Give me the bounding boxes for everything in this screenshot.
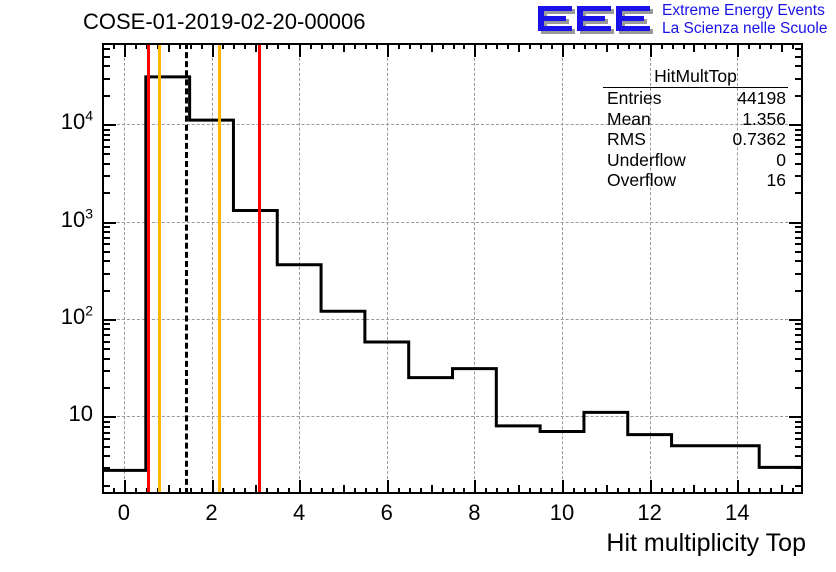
stats-row-value: 1.356: [742, 109, 786, 130]
x-tick-label: 6: [381, 500, 393, 526]
y-tick-label: 103: [61, 207, 93, 233]
logo-line-1: Extreme Energy Events: [662, 2, 827, 20]
stats-row-value: 16: [767, 170, 786, 191]
stats-row: RMS0.7362: [603, 129, 788, 150]
x-tick-label: 14: [725, 500, 749, 526]
stats-row: Mean1.356: [603, 109, 788, 130]
root-canvas: COSE-01-2019-02-20-00006: [0, 0, 836, 572]
stats-row-key: Overflow: [607, 170, 676, 191]
stats-rows: Entries44198Mean1.356RMS0.7362Underflow0…: [603, 88, 788, 191]
x-tick-label: 4: [293, 500, 305, 526]
logo-line-2: La Scienza nelle Scuole: [662, 20, 827, 38]
stats-box: HitMultTop Entries44198Mean1.356RMS0.736…: [603, 66, 788, 192]
stats-row-key: RMS: [607, 129, 646, 150]
stats-row-value: 0: [776, 150, 786, 171]
stats-row-value: 0.7362: [732, 129, 786, 150]
stats-box-title: HitMultTop: [603, 66, 788, 88]
logo-text: Extreme Energy Events La Scienza nelle S…: [662, 2, 827, 38]
stats-row: Entries44198: [603, 88, 788, 109]
page-title: COSE-01-2019-02-20-00006: [83, 9, 366, 35]
eee-logo: Extreme Energy Events La Scienza nelle S…: [536, 2, 836, 42]
x-tick-label: 12: [637, 500, 661, 526]
y-tick-label: 10: [69, 401, 93, 427]
stats-row: Underflow0: [603, 150, 788, 171]
x-tick-label: 2: [205, 500, 217, 526]
x-tick-label: 8: [468, 500, 480, 526]
stats-row-value: 44198: [737, 88, 786, 109]
eee-mark-icon: [536, 2, 656, 38]
stats-row-key: Underflow: [607, 150, 686, 171]
x-axis-title: Hit multiplicity Top: [606, 529, 806, 558]
stats-row-key: Mean: [607, 109, 651, 130]
stats-row-key: Entries: [607, 88, 661, 109]
x-tick-label: 10: [550, 500, 574, 526]
y-tick-label: 102: [61, 304, 93, 330]
stats-row: Overflow16: [603, 170, 788, 191]
x-tick-label: 0: [118, 500, 130, 526]
y-tick-label: 104: [61, 109, 93, 135]
